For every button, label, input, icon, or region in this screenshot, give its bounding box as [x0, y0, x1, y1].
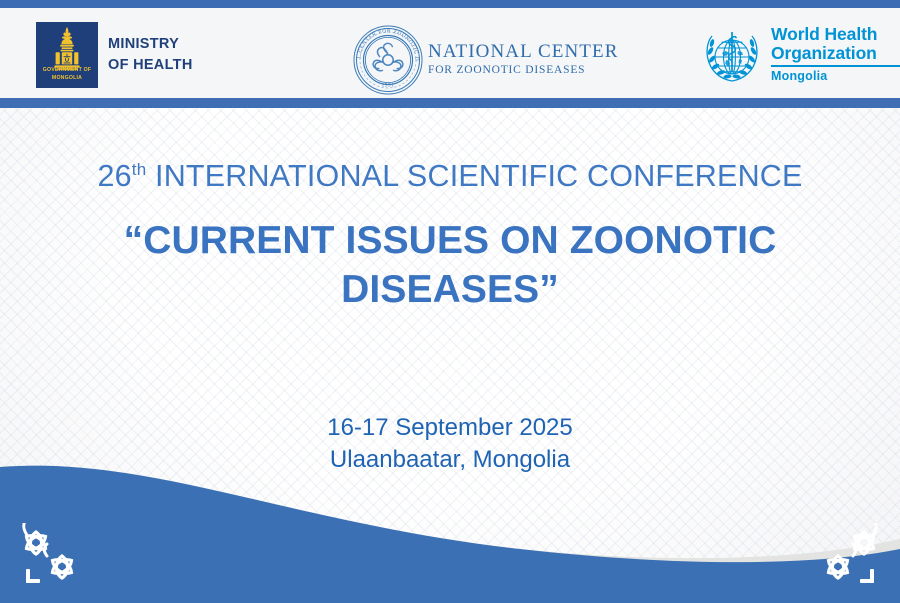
ministry-name-line1: MINISTRY: [108, 34, 193, 55]
top-accent-bar: [0, 0, 900, 8]
ministry-of-health-logo: GOVERNMENT OF MONGOLIA MINISTRY OF HEALT…: [36, 22, 193, 88]
event-date: 16-17 September 2025: [0, 412, 900, 444]
conference-number: 26: [97, 159, 131, 193]
mongolian-knot-ornament-left-icon: [14, 523, 96, 589]
who-name-line2: Organization: [771, 44, 900, 63]
nczd-name-line1: NATIONAL CENTER: [428, 42, 618, 63]
page-title: “CURRENT ISSUES ON ZOONOTIC DISEASES”: [0, 216, 900, 316]
who-emblem-icon: [700, 27, 764, 87]
svg-text:1951: 1951: [382, 83, 395, 89]
ministry-of-health-name: MINISTRY OF HEALTH: [108, 34, 193, 76]
conference-title-slide: GOVERNMENT OF MONGOLIA MINISTRY OF HEALT…: [0, 0, 900, 603]
wave-fill: [0, 466, 900, 603]
soyombo-icon: [36, 26, 98, 70]
conference-heading: 26th INTERNATIONAL SCIENTIFIC CONFERENCE: [0, 160, 900, 194]
page-title-line2: DISEASES”: [80, 265, 820, 315]
ministry-name-line2: OF HEALTH: [108, 55, 193, 76]
title-block: 26th INTERNATIONAL SCIENTIFIC CONFERENCE…: [0, 160, 900, 315]
who-name-line1: World Health: [771, 25, 900, 44]
logo-row: GOVERNMENT OF MONGOLIA MINISTRY OF HEALT…: [0, 8, 900, 98]
conference-ordinal-suffix: th: [132, 160, 147, 179]
mongolian-knot-ornament-right-icon: [804, 523, 886, 589]
mongolia-state-emblem: GOVERNMENT OF MONGOLIA: [36, 22, 98, 88]
who-logo: World Health Organization Mongolia: [700, 25, 900, 87]
who-underline-rule: [771, 65, 900, 67]
who-country-label: Mongolia: [771, 69, 900, 83]
header-divider-bar: [0, 98, 900, 108]
page-title-line1: “CURRENT ISSUES ON ZOONOTIC: [80, 216, 820, 266]
biohazard-seal-icon: NATIONAL CENTER FOR ZOONOTIC DISEASES 19…: [352, 24, 424, 96]
conference-heading-text: INTERNATIONAL SCIENTIFIC CONFERENCE: [146, 159, 802, 193]
nczd-name-line2: FOR ZOONOTIC DISEASES: [428, 63, 618, 77]
nczd-logo: NATIONAL CENTER FOR ZOONOTIC DISEASES 19…: [352, 24, 618, 96]
nczd-name: NATIONAL CENTER FOR ZOONOTIC DISEASES: [428, 42, 618, 77]
who-name-block: World Health Organization Mongolia: [771, 25, 900, 83]
emblem-caption-line1: GOVERNMENT OF: [36, 67, 98, 73]
bottom-wave-decoration: [0, 453, 900, 603]
emblem-caption-line2: MONGOLIA: [36, 75, 98, 81]
